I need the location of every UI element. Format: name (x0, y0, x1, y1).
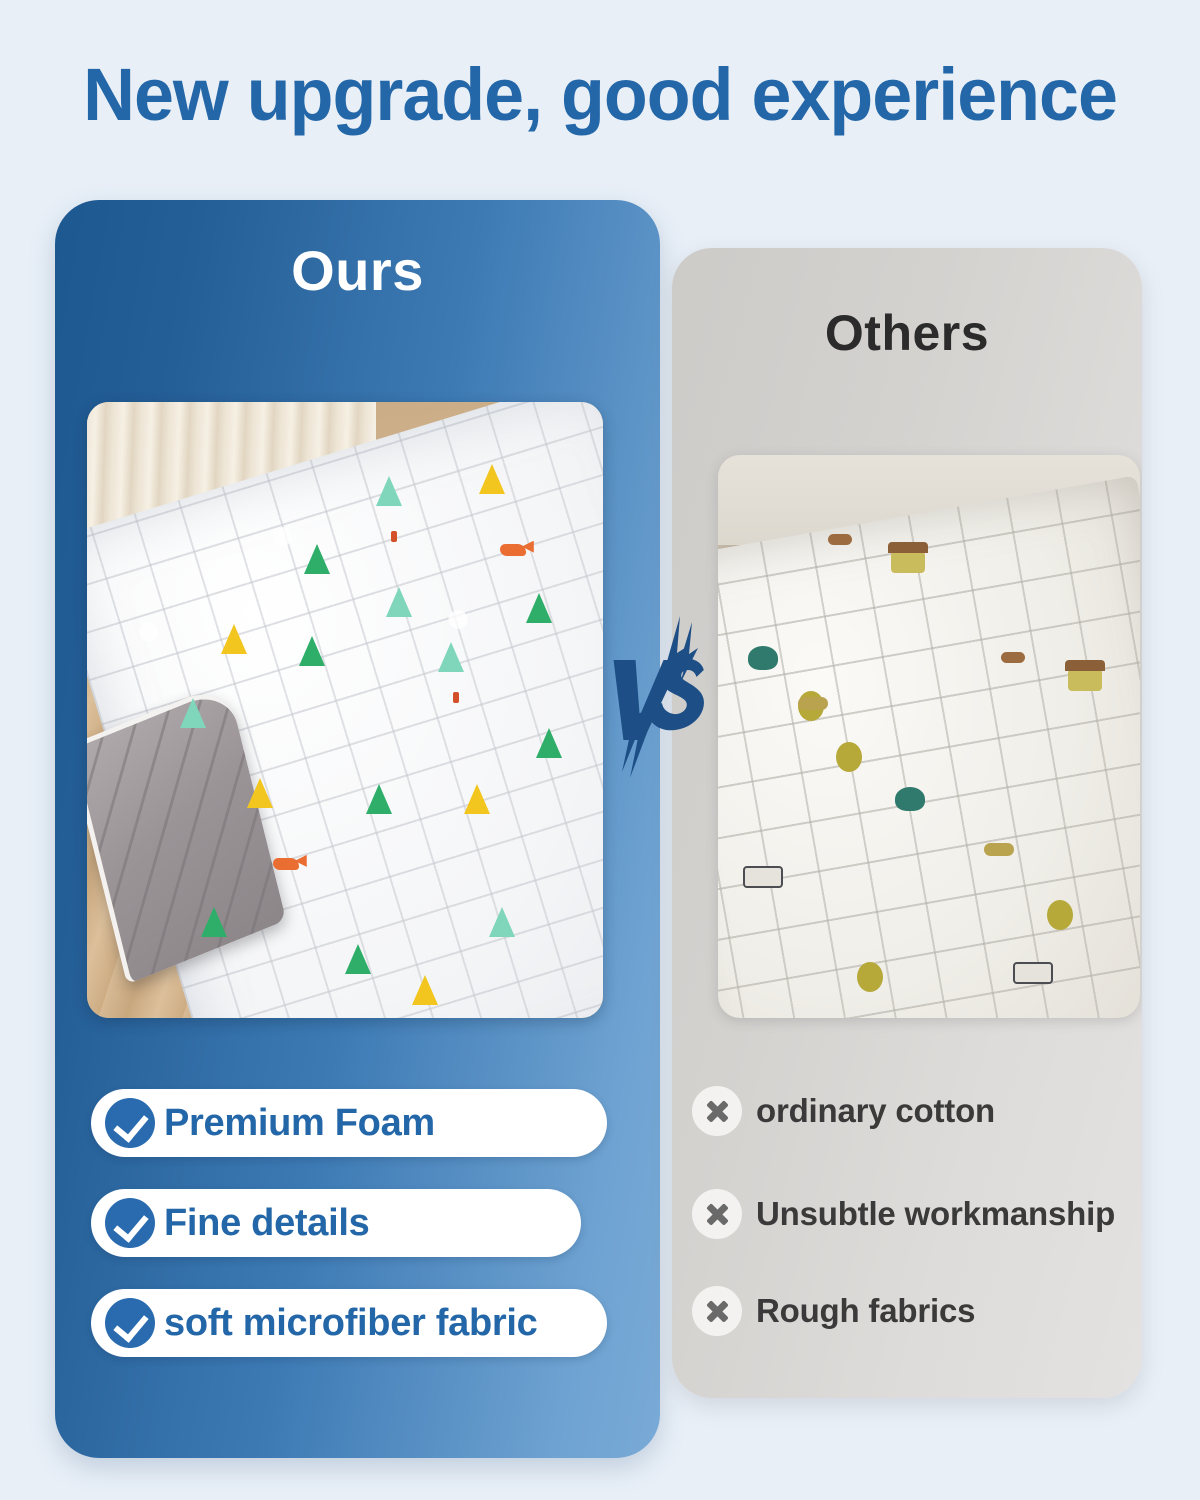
others-feature-label: Rough fabrics (756, 1292, 975, 1330)
x-circle-icon (692, 1286, 742, 1336)
ours-photo-scene (87, 402, 603, 1018)
house-motif-icon (1068, 669, 1102, 691)
ours-feature-label: Fine details (164, 1202, 369, 1245)
tree-motif-icon (345, 944, 371, 974)
others-panel-title: Others (672, 304, 1142, 362)
tree-motif-icon (536, 728, 562, 758)
house-motif-icon (891, 551, 925, 573)
fox-motif-icon (273, 858, 299, 870)
check-circle-icon (105, 1098, 155, 1148)
ours-feature-label: Premium Foam (164, 1102, 435, 1145)
tree-motif-icon (247, 778, 273, 808)
x-circle-icon (692, 1189, 742, 1239)
others-product-photo (718, 455, 1140, 1018)
tree-motif-icon (299, 636, 325, 666)
others-panel: Others ordinary cotton Unsu (672, 248, 1142, 1398)
tree-motif-icon (895, 787, 925, 811)
others-feature-item: Rough fabrics (692, 1283, 975, 1339)
tree-motif-icon (304, 544, 330, 574)
truck-motif-icon (1013, 962, 1053, 984)
dog-motif-icon (828, 534, 852, 545)
others-photo-scene (718, 455, 1140, 1018)
tree-motif-icon (464, 784, 490, 814)
dog-motif-icon (984, 843, 1014, 856)
tree-motif-icon (1047, 900, 1073, 930)
vs-badge (604, 612, 722, 782)
others-feature-label: ordinary cotton (756, 1092, 995, 1130)
tree-motif-icon (526, 593, 552, 623)
tree-motif-icon (221, 624, 247, 654)
fox-motif-icon (500, 544, 526, 556)
ours-feature-label: soft microfiber fabric (164, 1302, 537, 1345)
tree-motif-icon (180, 698, 206, 728)
others-feature-label: Unsubtle workmanship (756, 1195, 1115, 1233)
tree-motif-icon (366, 784, 392, 814)
truck-motif-icon (743, 866, 783, 888)
ours-panel-title: Ours (55, 238, 660, 303)
lightning-bolt-vs-icon (604, 612, 722, 782)
ours-feature-item: soft microfiber fabric (91, 1289, 607, 1357)
tree-motif-icon (438, 642, 464, 672)
dog-motif-icon (798, 697, 828, 710)
tree-motif-icon (857, 962, 883, 992)
x-circle-icon (692, 1086, 742, 1136)
others-feature-item: ordinary cotton (692, 1083, 995, 1139)
trunk-motif-icon (453, 692, 459, 703)
ours-panel: Ours (55, 200, 660, 1458)
ours-product-photo (87, 402, 603, 1018)
others-feature-item: Unsubtle workmanship (692, 1186, 1115, 1242)
tree-motif-icon (386, 587, 412, 617)
dog-motif-icon (1001, 652, 1025, 663)
check-circle-icon (105, 1198, 155, 1248)
tree-motif-icon (376, 476, 402, 506)
tree-motif-icon (479, 464, 505, 494)
tree-motif-icon (412, 975, 438, 1005)
page-title: New upgrade, good experience (18, 52, 1182, 137)
ours-feature-item: Fine details (91, 1189, 581, 1257)
tree-motif-icon (489, 907, 515, 937)
tree-motif-icon (748, 646, 778, 670)
ours-feature-item: Premium Foam (91, 1089, 607, 1157)
quilted-mat-others (718, 475, 1140, 1018)
trunk-motif-icon (391, 531, 397, 542)
tree-motif-icon (201, 907, 227, 937)
check-circle-icon (105, 1298, 155, 1348)
